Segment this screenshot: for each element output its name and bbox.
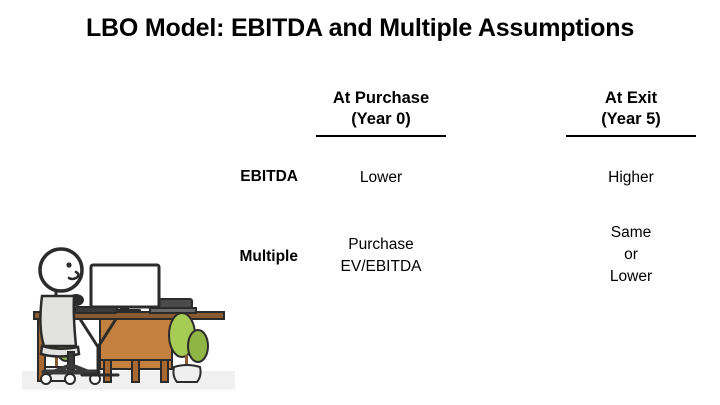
cell-multiple-at-exit-line3: Lower xyxy=(541,266,720,288)
column-header-at-exit-line2: (Year 5) xyxy=(531,109,720,130)
column-header-at-exit: At Exit (Year 5) xyxy=(531,88,720,130)
row-label-ebitda: EBITDA xyxy=(158,167,298,187)
stick-figure-person-icon xyxy=(40,249,82,299)
cell-multiple-at-purchase-line2: EV/EBITDA xyxy=(291,256,471,278)
cell-ebitda-at-purchase: Lower xyxy=(291,167,471,189)
column-header-at-purchase-underline xyxy=(316,135,446,137)
cell-ebitda-at-exit-line1: Higher xyxy=(541,167,720,189)
column-header-at-exit-underline xyxy=(566,135,696,137)
computer-monitor-icon xyxy=(91,265,159,313)
column-header-at-exit-line1: At Exit xyxy=(605,89,657,107)
cell-multiple-at-purchase: Purchase EV/EBITDA xyxy=(291,234,471,278)
column-header-at-purchase-line2: (Year 0) xyxy=(281,109,481,130)
cell-multiple-at-exit-line2: or xyxy=(541,244,720,266)
keyboard-icon xyxy=(75,307,117,313)
column-header-at-purchase-line1: At Purchase xyxy=(333,89,429,107)
column-header-at-purchase: At Purchase (Year 0) xyxy=(281,88,481,130)
person-at-desk-illustration xyxy=(22,243,237,398)
cell-multiple-at-purchase-line1: Purchase xyxy=(291,234,471,256)
floor-line xyxy=(22,389,235,391)
cell-multiple-at-exit-line1: Same xyxy=(541,222,720,244)
cell-multiple-at-exit: Same or Lower xyxy=(541,222,720,288)
cell-ebitda-at-exit: Higher xyxy=(541,167,720,189)
cell-ebitda-at-purchase-line1: Lower xyxy=(291,167,471,189)
